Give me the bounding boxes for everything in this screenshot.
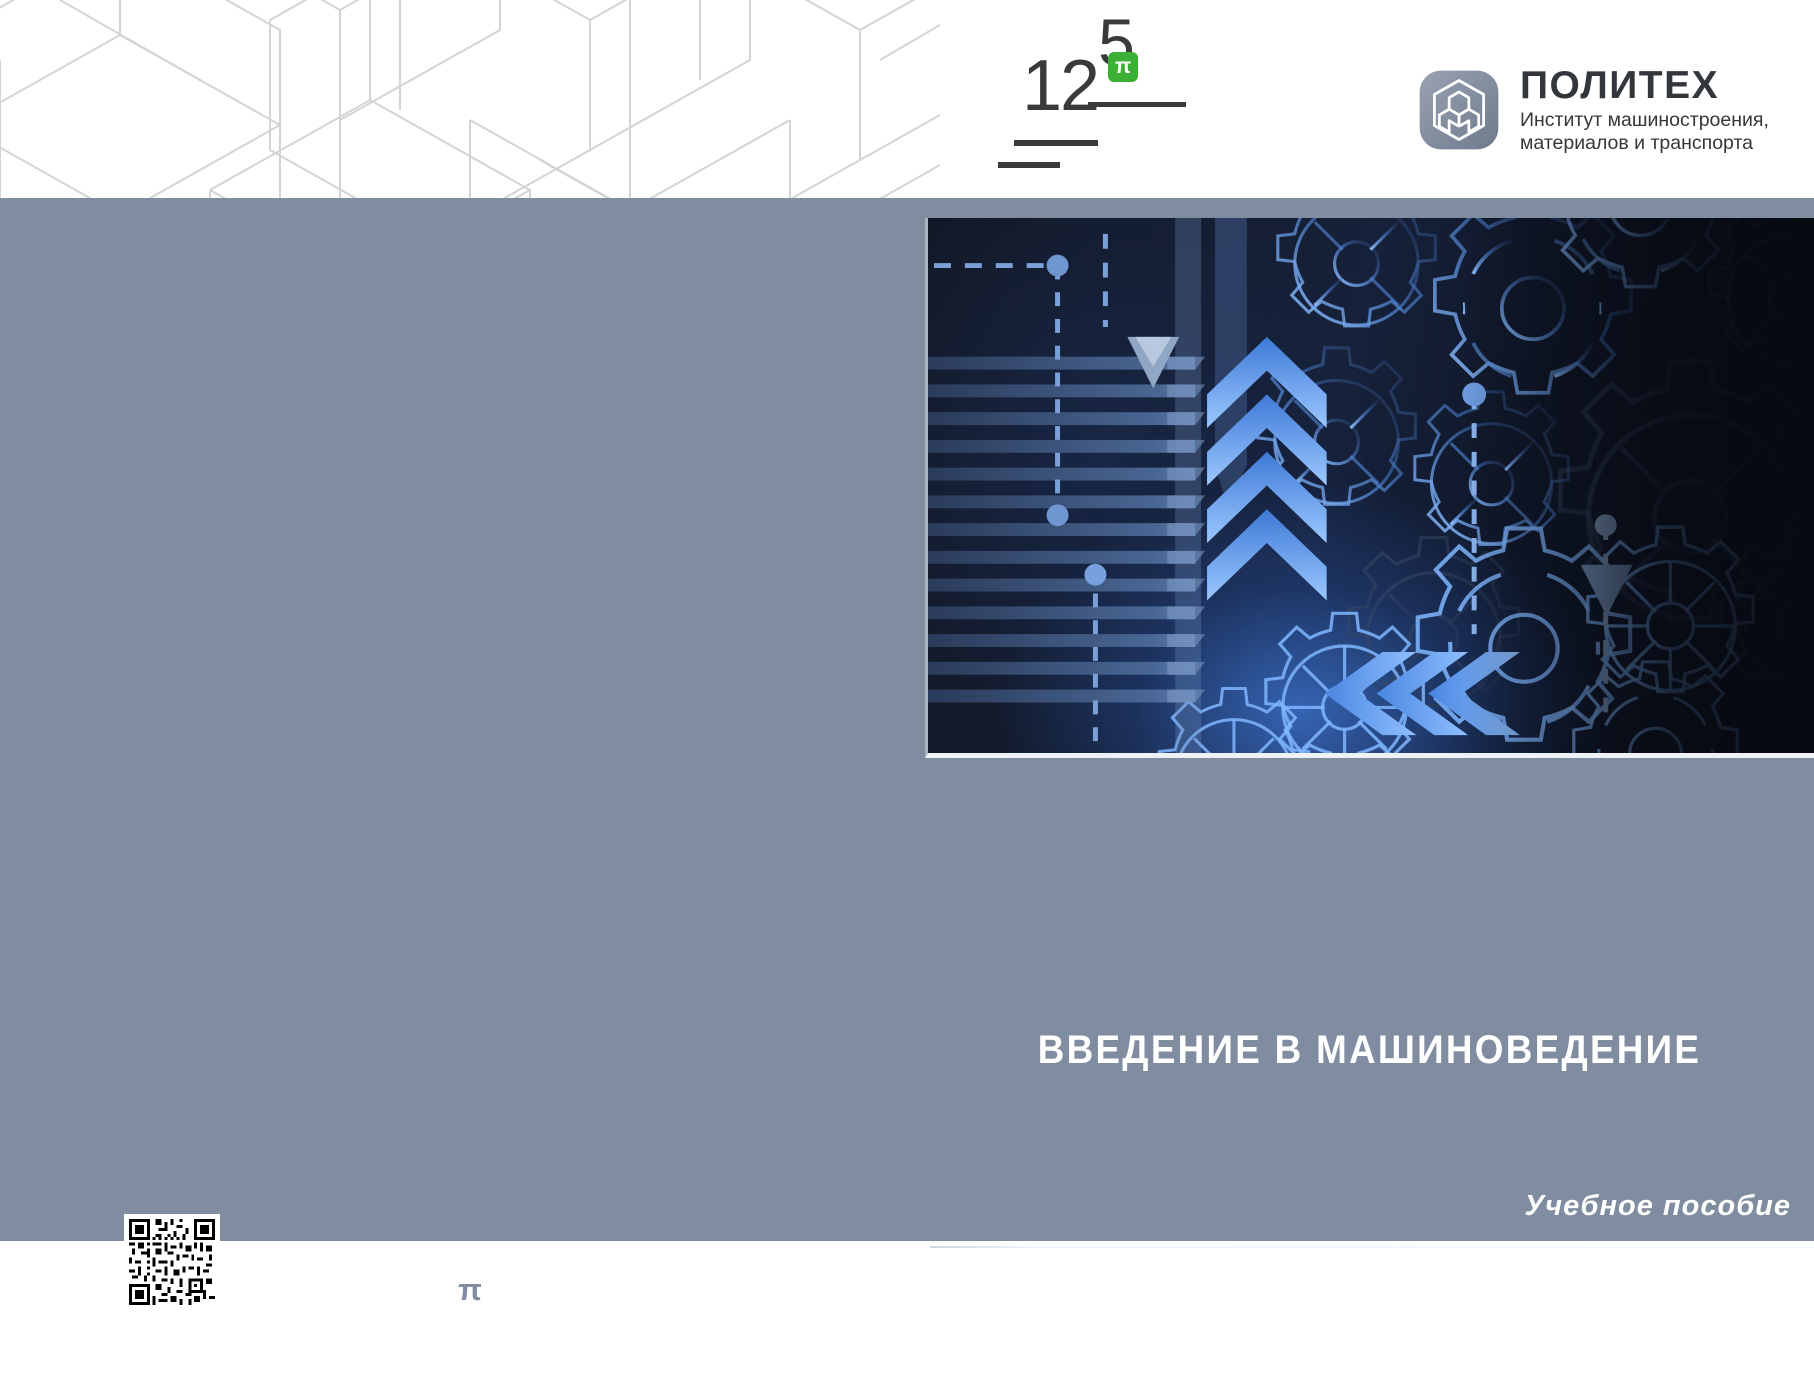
publisher-line1: Санкт-Петербургский (1317, 1293, 1519, 1311)
divider-rule (930, 1246, 1814, 1248)
publication-year: 2023 (1245, 1358, 1475, 1385)
publisher-line3: Петра Великого (1317, 1328, 1519, 1346)
page-title: ВВЕДЕНИЕ В МАШИНОВЕДЕНИЕ (961, 1028, 1779, 1073)
publisher-text: ПОЛИТЕХ-ПРЕСС Санкт-Петербургский полите… (1317, 1266, 1519, 1346)
institute-logo-text: ПОЛИТЕХ Институт машиностроения, материа… (1520, 65, 1769, 155)
anniversary-bar-3 (1088, 102, 1186, 107)
qr-code-image (129, 1219, 215, 1305)
anniversary-125-mark: 125 π (1000, 42, 1190, 162)
open-book-icon (1245, 1266, 1303, 1326)
institute-subtitle-line2: материалов и транспорта (1520, 132, 1769, 155)
cover-artwork (925, 218, 1814, 758)
institute-name: ПОЛИТЕХ (1520, 65, 1769, 107)
anniversary-bar-1 (1014, 140, 1098, 146)
publisher-subtitle: Санкт-Петербургский политехнический унив… (1317, 1293, 1519, 1346)
publisher-name: ПОЛИТЕХ-ПРЕСС (1317, 1266, 1519, 1290)
isometric-pattern-icon (0, 0, 940, 198)
anniversary-bar-2 (998, 162, 1060, 168)
polyteh-brand-label: ПОЛИТЕХ (428, 1319, 512, 1333)
institute-logo: ПОЛИТЕХ Институт машиностроения, материа… (1418, 60, 1769, 160)
pi-badge-icon: π (1108, 52, 1138, 82)
polyteh-brand-mark: π ПОЛИТЕХ (428, 1268, 512, 1333)
cover-subtitle: Учебное пособие (925, 1190, 1791, 1223)
hexagon-cube-icon (1418, 69, 1500, 151)
publisher-block: ПОЛИТЕХ-ПРЕСС Санкт-Петербургский полите… (1245, 1266, 1519, 1346)
institute-subtitle: Институт машиностроения, материалов и тр… (1520, 109, 1769, 155)
header-band: 125 π ПОЛИТЕХ И (0, 0, 1814, 198)
cover-background: ВВЕДЕНИЕ В МАШИНОВЕДЕНИЕ Учебное пособие… (0, 198, 1814, 1241)
institute-subtitle-line1: Институт машиностроения, (1520, 109, 1769, 132)
qr-code[interactable] (124, 1214, 220, 1310)
pi-logo-icon: π (448, 1268, 492, 1312)
stacked-bars (928, 218, 1247, 753)
publisher-line2: политехнический университет (1317, 1311, 1519, 1329)
artwork-vignette (1460, 218, 1814, 753)
